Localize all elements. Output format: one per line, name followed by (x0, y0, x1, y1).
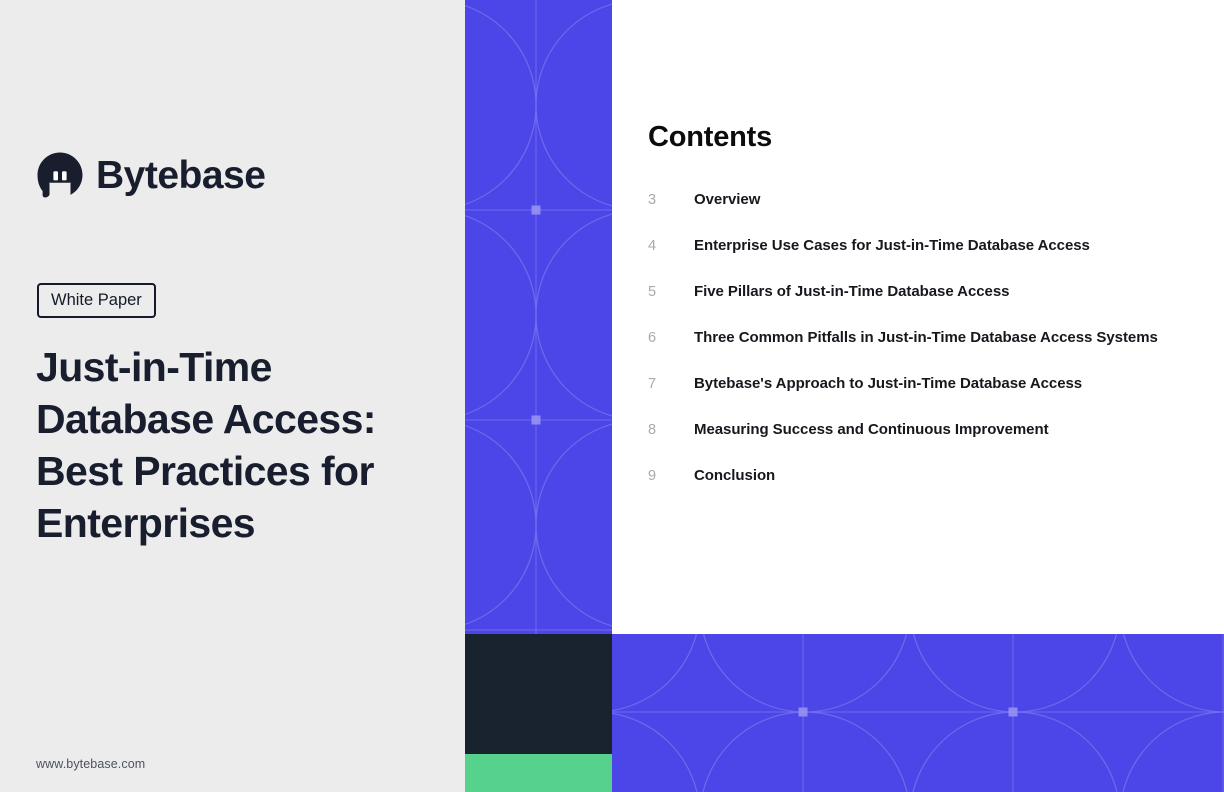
circle-grid-pattern-column (465, 0, 612, 634)
list-item[interactable]: 9 Conclusion (648, 467, 1208, 513)
contents-heading: Contents (648, 121, 772, 154)
contents-panel: Contents 3 Overview 4 Enterprise Use Cas… (612, 0, 1224, 634)
cover-title-line-4: Enterprises (36, 497, 436, 549)
document-type-badge: White Paper (37, 283, 156, 318)
toc-entry-label: Three Common Pitfalls in Just-in-Time Da… (694, 329, 1158, 346)
list-item[interactable]: 4 Enterprise Use Cases for Just-in-Time … (648, 237, 1208, 283)
whitepaper-cover-page: Bytebase White Paper Just-in-Time Databa… (0, 0, 1224, 792)
bytebase-logo-icon (37, 152, 83, 198)
toc-entry-label: Bytebase's Approach to Just-in-Time Data… (694, 375, 1082, 392)
green-accent-block (465, 754, 612, 792)
toc-entry-label: Enterprise Use Cases for Just-in-Time Da… (694, 237, 1090, 254)
brand-wordmark: Bytebase (96, 156, 265, 195)
cover-title-line-2: Database Access: (36, 393, 436, 445)
toc-entry-label: Conclusion (694, 467, 775, 484)
circle-grid-pattern-band (612, 634, 1224, 792)
decor-purple-bottom-band (612, 634, 1224, 792)
toc-entry-label: Measuring Success and Continuous Improve… (694, 421, 1049, 438)
list-item[interactable]: 5 Five Pillars of Just-in-Time Database … (648, 283, 1208, 329)
cover-title-line-3: Best Practices for (36, 445, 436, 497)
toc-page-number: 3 (648, 192, 694, 208)
list-item[interactable]: 3 Overview (648, 191, 1208, 237)
decor-purple-column (465, 0, 612, 634)
toc-entry-label: Five Pillars of Just-in-Time Database Ac… (694, 283, 1009, 300)
navy-accent-block (465, 634, 612, 754)
list-item[interactable]: 8 Measuring Success and Continuous Impro… (648, 421, 1208, 467)
toc-page-number: 4 (648, 238, 694, 254)
cover-title: Just-in-Time Database Access: Best Pract… (36, 341, 436, 549)
cover-left-panel: Bytebase White Paper Just-in-Time Databa… (0, 0, 465, 792)
cover-title-line-1: Just-in-Time (36, 341, 436, 393)
toc-page-number: 7 (648, 376, 694, 392)
toc-entry-label: Overview (694, 191, 760, 208)
table-of-contents: 3 Overview 4 Enterprise Use Cases for Ju… (648, 191, 1208, 513)
bytebase-logo-lockup: Bytebase (37, 152, 265, 198)
toc-page-number: 6 (648, 330, 694, 346)
list-item[interactable]: 6 Three Common Pitfalls in Just-in-Time … (648, 329, 1208, 375)
toc-page-number: 8 (648, 422, 694, 438)
toc-page-number: 5 (648, 284, 694, 300)
list-item[interactable]: 7 Bytebase's Approach to Just-in-Time Da… (648, 375, 1208, 421)
footer-website-url[interactable]: www.bytebase.com (36, 757, 145, 771)
toc-page-number: 9 (648, 468, 694, 484)
